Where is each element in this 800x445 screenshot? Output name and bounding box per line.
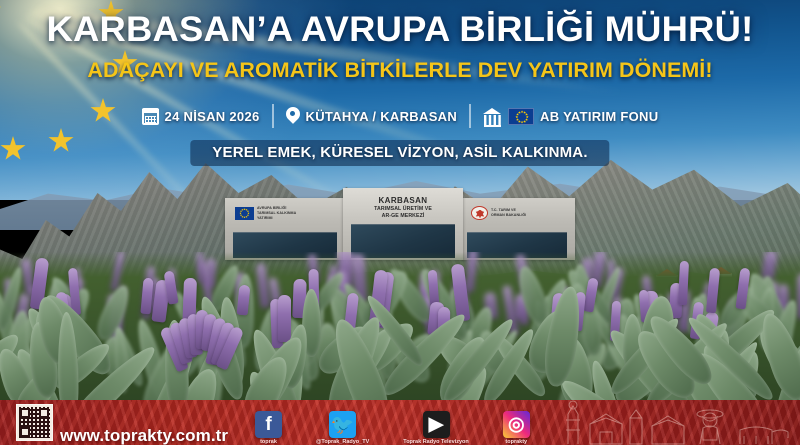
social-label: toprakty [505, 439, 527, 445]
social-links: f toprak 🐦 @Toprak_Radyo_TV ▶ Toprak Rad… [255, 411, 530, 445]
social-label: @Toprak_Radyo_TV [316, 439, 369, 445]
poster-subtitle: ADAÇAYI VE AROMATİK BİTKİLERLE DEV YATIR… [0, 59, 800, 83]
info-date-label: 24 NİSAN 2026 [165, 109, 260, 124]
poster-title: KARBASAN’A AVRUPA BİRLİĞİ MÜHRÜ! [0, 10, 800, 50]
eu-flag-icon [508, 108, 534, 125]
social-label: toprak [260, 439, 277, 445]
youtube-icon[interactable]: ▶ [423, 411, 450, 438]
building-sign-left-text: AVRUPA BİRLİĞİ TARIMSAL KALKINMA YATIRIM… [257, 206, 296, 221]
info-bar: 24 NİSAN 2026 KÜTAHYA / KARBASAN AB YATI… [0, 104, 800, 128]
calendar-icon [142, 108, 159, 125]
sign-line: AVRUPA BİRLİĞİ [257, 206, 286, 210]
info-location: KÜTAHYA / KARBASAN [286, 107, 458, 126]
info-date: 24 NİSAN 2026 [142, 108, 260, 125]
info-divider [272, 104, 274, 128]
social-label: Toprak Radyo Televizyon [403, 439, 469, 445]
farm-illustration [560, 400, 800, 445]
info-fund-label: AB YATIRIM FONU [540, 109, 658, 124]
website-url[interactable]: www.toprakty.com.tr [60, 426, 228, 445]
twitter-icon[interactable]: 🐦 [329, 411, 356, 438]
social-instagram[interactable]: ◎ toprakty [503, 411, 530, 445]
facebook-icon[interactable]: f [255, 411, 282, 438]
footer-bar: www.toprakty.com.tr f toprak 🐦 @Toprak_R… [0, 400, 800, 445]
sign-line: YATIRIMI [257, 216, 273, 220]
bank-icon [483, 108, 502, 125]
sign-line: TARIMSAL KALKINMA [257, 211, 296, 215]
social-twitter[interactable]: 🐦 @Toprak_Radyo_TV [316, 411, 369, 445]
instagram-icon[interactable]: ◎ [503, 411, 530, 438]
info-fund: AB YATIRIM FONU [483, 108, 658, 125]
building-sign-right: T.C. TARIM VE ORMAN BAKANLIĞI [471, 206, 526, 220]
qr-code-icon[interactable] [16, 404, 53, 441]
sign-line: T.C. TARIM VE [491, 208, 516, 212]
info-divider [469, 104, 471, 128]
eu-flag-icon [235, 207, 254, 220]
sage-plants-foreground [0, 252, 800, 410]
tagline-banner: YEREL EMEK, KÜRESEL VİZYON, ASİL KALKINM… [190, 140, 609, 166]
social-facebook[interactable]: f toprak [255, 411, 282, 445]
social-youtube[interactable]: ▶ Toprak Radyo Televizyon [403, 411, 469, 445]
building-sign-center: KARBASAN TARIMSAL ÜRETİM VE AR-GE MERKEZ… [355, 196, 451, 220]
map-pin-icon [286, 107, 300, 126]
building-name: KARBASAN [355, 196, 451, 205]
research-center-building: AVRUPA BİRLİĞİ TARIMSAL KALKINMA YATIRIM… [225, 188, 575, 260]
building-sign-left: AVRUPA BİRLİĞİ TARIMSAL KALKINMA YATIRIM… [235, 206, 296, 221]
event-poster: KARBASAN’A AVRUPA BİRLİĞİ MÜHRÜ! ADAÇAYI… [0, 0, 800, 445]
sign-line: AR-GE MERKEZİ [355, 214, 451, 220]
sign-line: TARIMSAL ÜRETİM VE [355, 207, 451, 213]
building-sign-right-text: T.C. TARIM VE ORMAN BAKANLIĞI [491, 208, 526, 218]
sign-line: ORMAN BAKANLIĞI [491, 213, 526, 217]
info-location-label: KÜTAHYA / KARBASAN [306, 109, 458, 124]
turkish-ministry-logo-icon [471, 206, 488, 220]
